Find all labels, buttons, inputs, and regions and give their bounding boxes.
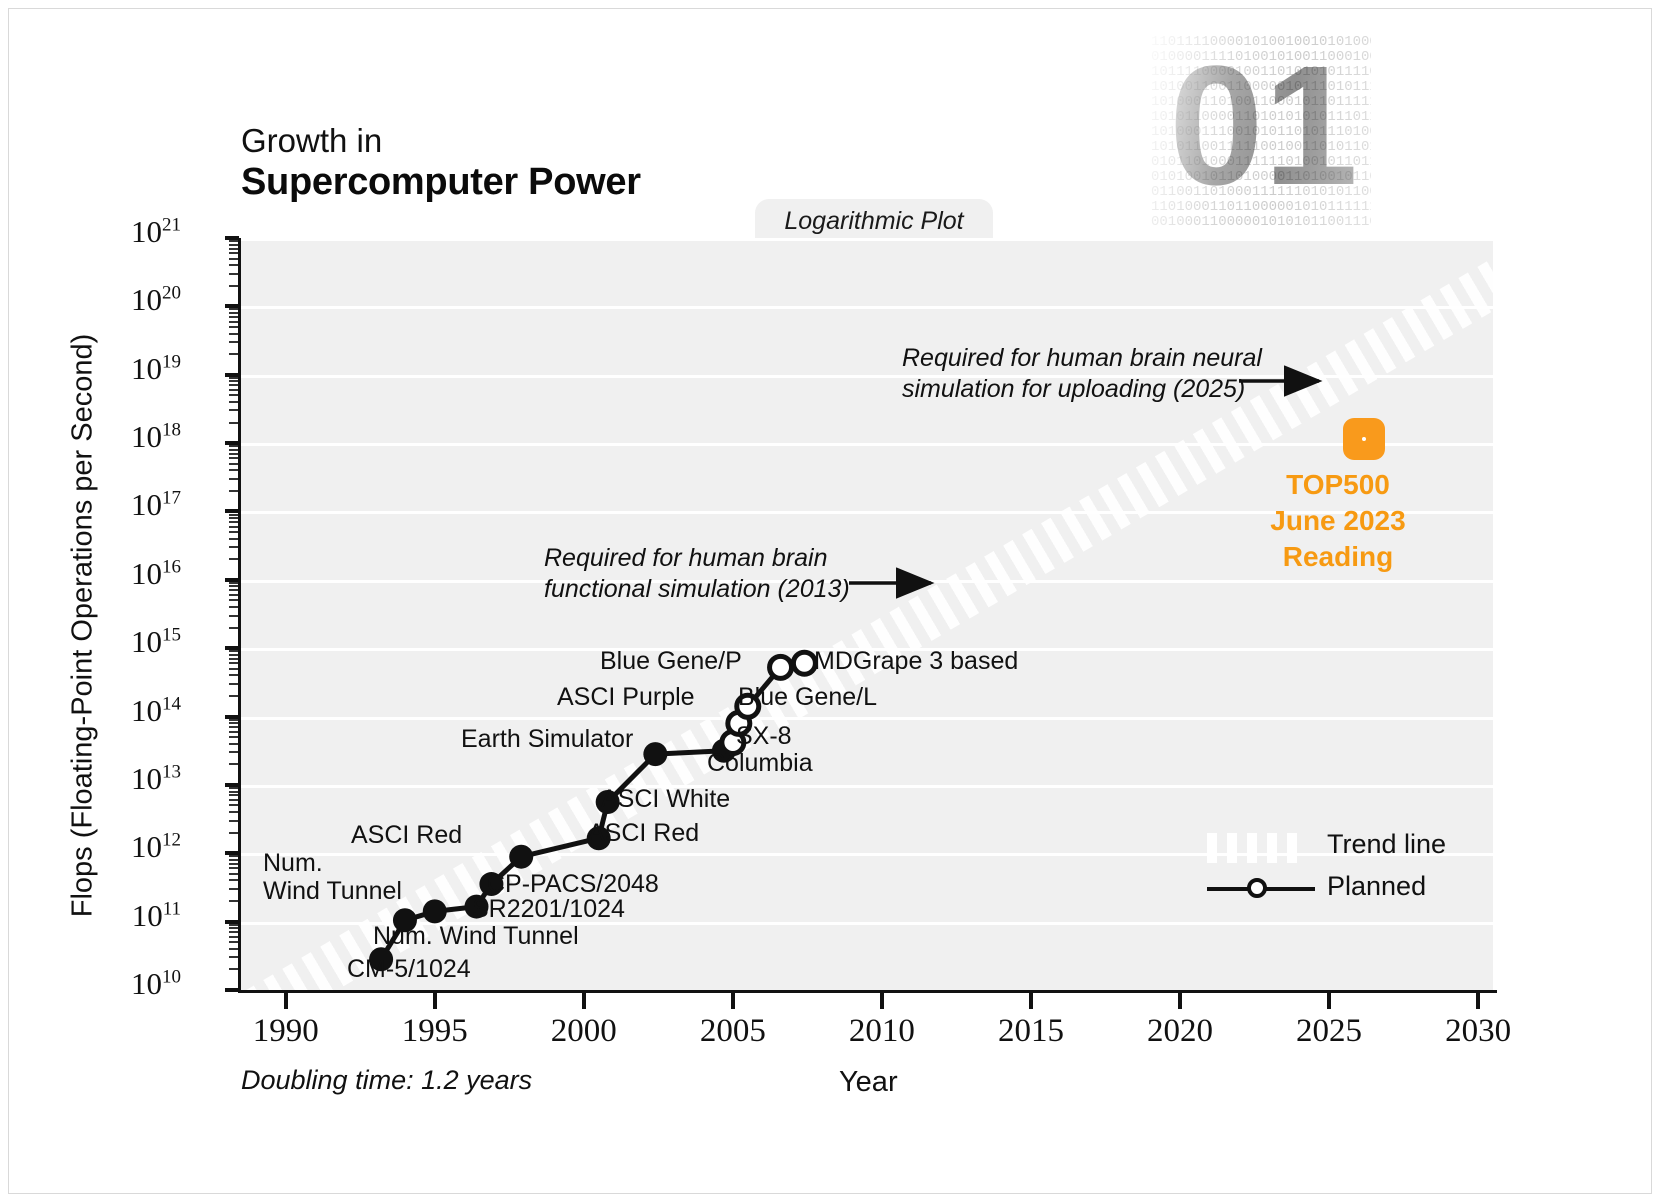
y-axis-tick-minor — [229, 312, 238, 314]
y-axis-tick-minor — [229, 927, 238, 929]
top500-line1: TOP500 — [1213, 467, 1463, 503]
data-point-planned[interactable] — [793, 652, 815, 674]
data-point-label: ASCI Red — [588, 819, 699, 848]
top500-line2: June 2023 Reading — [1213, 503, 1463, 575]
y-axis-tick-minor — [229, 606, 238, 608]
data-point-achieved[interactable] — [509, 845, 533, 869]
x-axis-tick — [880, 993, 884, 1009]
y-axis-tick-major — [225, 715, 239, 719]
y-axis-tick-minor — [229, 273, 238, 275]
data-point-label: Blue Gene/L — [738, 683, 877, 712]
annotation-brain-functional-sim: Required for human brain functional simu… — [544, 543, 850, 605]
y-axis-tick-label: 1015 — [21, 624, 181, 660]
legend-label-planned: Planned — [1327, 871, 1426, 902]
x-axis-tick-label: 2000 — [551, 1013, 617, 1050]
y-axis-tick-major — [225, 851, 239, 855]
y-axis-tick-minor — [229, 585, 238, 587]
planned-marker-icon — [1247, 878, 1267, 898]
y-axis-tick-minor — [229, 787, 238, 789]
y-axis-tick-minor — [229, 855, 238, 857]
binary-01-logo: 1101111000010100100101010000 01000011110… — [1151, 35, 1371, 225]
y-axis-tick-major — [225, 988, 239, 992]
y-axis-tick-minor — [229, 654, 238, 656]
top500-marker-dot — [1362, 437, 1366, 441]
y-axis-tick-minor — [229, 695, 238, 697]
doubling-time-note: Doubling time: 1.2 years — [241, 1065, 532, 1096]
y-axis-tick-minor — [229, 252, 238, 254]
y-axis-tick-label: 1013 — [21, 761, 181, 797]
data-point-label: ASCI White — [601, 785, 730, 814]
x-axis-tick — [1178, 993, 1182, 1009]
y-axis-tick-minor — [229, 668, 238, 670]
x-axis-tick-label: 1990 — [253, 1013, 319, 1050]
y-axis-tick-minor — [229, 936, 238, 938]
y-axis-tick-minor — [229, 658, 238, 660]
y-axis-tick-minor — [229, 422, 238, 424]
logo-glyph: 01 — [1169, 41, 1358, 211]
y-axis-tick-major — [225, 578, 239, 582]
y-axis-tick-label: 1021 — [21, 214, 181, 250]
y-axis-tick-minor — [229, 743, 238, 745]
y-axis-tick-minor — [229, 514, 238, 516]
x-axis-tick-label: 2005 — [700, 1013, 766, 1050]
y-axis-tick-minor — [229, 873, 238, 875]
y-axis-tick-minor — [229, 867, 238, 869]
y-axis-tick-minor — [229, 900, 238, 902]
data-point-label: Columbia — [707, 749, 813, 778]
y-axis-tick-minor — [229, 264, 238, 266]
data-point-label: SR2201/1024 — [472, 895, 625, 924]
x-axis-tick-label: 1995 — [402, 1013, 468, 1050]
y-axis-tick-minor — [229, 321, 238, 323]
legend-label-trend-line: Trend line — [1327, 829, 1446, 860]
y-axis-tick-minor — [229, 736, 238, 738]
x-axis-tick-label: 2030 — [1445, 1013, 1511, 1050]
y-axis-tick-minor — [229, 968, 238, 970]
y-axis-tick-label: 1011 — [21, 898, 181, 934]
y-axis-tick-minor — [229, 380, 238, 382]
y-axis-tick-minor — [229, 615, 238, 617]
y-axis-tick-major — [225, 373, 239, 377]
y-axis-tick-minor — [229, 799, 238, 801]
y-axis-tick-label: 1020 — [21, 282, 181, 318]
data-point-label: CM-5/1024 — [347, 955, 471, 984]
x-axis-tick-label: 2015 — [998, 1013, 1064, 1050]
y-axis-tick-minor — [229, 521, 238, 523]
y-axis-tick-major — [225, 509, 239, 513]
y-axis-tick-minor — [229, 478, 238, 480]
y-axis-tick-minor — [229, 517, 238, 519]
y-axis-tick-minor — [229, 409, 238, 411]
y-axis-tick-minor — [229, 589, 238, 591]
y-axis-tick-minor — [229, 449, 238, 451]
y-axis-tick-minor — [229, 956, 238, 958]
y-axis-tick-minor — [229, 316, 238, 318]
x-axis-tick — [284, 993, 288, 1009]
data-point-label: Wind Tunnel — [263, 877, 402, 906]
y-axis-tick-minor — [229, 258, 238, 260]
y-axis-tick-minor — [229, 924, 238, 926]
y-axis-tick-minor — [229, 859, 238, 861]
y-axis-tick-minor — [229, 763, 238, 765]
y-axis-tick-minor — [229, 820, 238, 822]
x-axis-tick-label: 2020 — [1147, 1013, 1213, 1050]
y-axis-tick-minor — [229, 941, 238, 943]
data-point-planned[interactable] — [770, 656, 792, 678]
y-axis-tick-label: 1012 — [21, 829, 181, 865]
data-point-achieved[interactable] — [423, 899, 447, 923]
y-axis-tick-minor — [229, 445, 238, 447]
y-axis-tick-minor — [229, 384, 238, 386]
title-prefix: Growth in — [241, 122, 382, 160]
y-axis-tick-minor — [229, 453, 238, 455]
y-axis-tick-minor — [229, 285, 238, 287]
y-axis-tick-minor — [229, 719, 238, 721]
data-series — [241, 238, 1493, 990]
y-axis-tick-major — [225, 783, 239, 787]
trend-line-swatch — [1207, 833, 1307, 863]
y-axis-tick-minor — [229, 341, 238, 343]
y-axis-tick-minor — [229, 490, 238, 492]
y-axis-tick-minor — [229, 457, 238, 459]
y-axis-tick-minor — [229, 353, 238, 355]
y-axis-tick-minor — [229, 333, 238, 335]
y-axis-tick-major — [225, 304, 239, 308]
y-axis-tick-minor — [229, 240, 238, 242]
y-axis-tick-label: 1010 — [21, 966, 181, 1002]
y-axis-tick-minor — [229, 722, 238, 724]
y-axis-tick-label: 1018 — [21, 419, 181, 455]
data-point-label: MDGrape 3 based — [814, 647, 1018, 676]
tab-logarithmic-plot[interactable]: Logarithmic Plot — [755, 199, 993, 243]
data-point-achieved[interactable] — [643, 742, 667, 766]
y-axis-tick-minor — [229, 248, 238, 250]
y-axis-tick-major — [225, 920, 239, 924]
y-axis-tick-minor — [229, 832, 238, 834]
y-axis-tick-minor — [229, 650, 238, 652]
y-axis-tick-minor — [229, 244, 238, 246]
y-axis-tick-minor — [229, 469, 238, 471]
x-axis-tick — [433, 993, 437, 1009]
chart-frame: 1101111000010100100101010000 01000011110… — [8, 8, 1652, 1194]
top500-annotation: TOP500 June 2023 Reading — [1213, 467, 1463, 575]
data-point-label: ASCI Purple — [557, 683, 695, 712]
y-axis-tick-minor — [229, 599, 238, 601]
y-axis-tick-minor — [229, 794, 238, 796]
y-axis-tick-minor — [229, 879, 238, 881]
y-axis-tick-minor — [229, 463, 238, 465]
x-axis-tick — [1327, 993, 1331, 1009]
x-axis-tick — [1476, 993, 1480, 1009]
page-title: Supercomputer Power — [241, 161, 641, 204]
y-axis-tick-minor — [229, 731, 238, 733]
data-point-label: Num. Wind Tunnel — [373, 922, 579, 951]
x-axis-tick-label: 2010 — [849, 1013, 915, 1050]
y-axis-tick-minor — [229, 726, 238, 728]
annotation-brain-neural-upload: Required for human brain neural simulati… — [902, 343, 1262, 405]
y-axis-tick-minor — [229, 683, 238, 685]
y-axis-tick-major — [225, 441, 239, 445]
y-axis-tick-minor — [229, 582, 238, 584]
y-axis-tick-minor — [229, 811, 238, 813]
y-axis-tick-major — [225, 646, 239, 650]
y-axis-tick-minor — [229, 863, 238, 865]
y-axis-tick-minor — [229, 526, 238, 528]
y-axis-tick-minor — [229, 674, 238, 676]
y-axis-tick-minor — [229, 531, 238, 533]
y-axis-tick-minor — [229, 627, 238, 629]
data-point-label: Blue Gene/P — [600, 647, 742, 676]
y-axis-tick-minor — [229, 377, 238, 379]
y-axis-title: Flops (Floating-Point Operations per Sec… — [67, 306, 100, 946]
y-axis-tick-minor — [229, 308, 238, 310]
y-axis-tick-minor — [229, 389, 238, 391]
y-axis-tick-minor — [229, 791, 238, 793]
y-axis-tick-label: 1016 — [21, 556, 181, 592]
y-axis-tick-minor — [229, 888, 238, 890]
x-axis-title: Year — [839, 1066, 898, 1099]
y-axis-tick-minor — [229, 662, 238, 664]
tab-label: Logarithmic Plot — [755, 199, 993, 243]
data-point-label: ASCI Red — [351, 821, 462, 850]
y-axis-tick-label: 1017 — [21, 487, 181, 523]
y-axis-tick-label: 1019 — [21, 351, 181, 387]
x-axis-tick — [731, 993, 735, 1009]
y-axis-tick-minor — [229, 948, 238, 950]
y-axis-tick-minor — [229, 538, 238, 540]
y-axis-tick-minor — [229, 931, 238, 933]
data-point-label: Earth Simulator — [461, 725, 633, 754]
y-axis-tick-minor — [229, 394, 238, 396]
y-axis-tick-major — [225, 236, 239, 240]
y-axis-tick-minor — [229, 594, 238, 596]
top500-marker[interactable] — [1343, 418, 1385, 460]
x-axis-tick — [582, 993, 586, 1009]
y-axis-tick-minor — [229, 401, 238, 403]
y-axis-tick-minor — [229, 326, 238, 328]
y-axis-tick-minor — [229, 751, 238, 753]
y-axis-tick-minor — [229, 804, 238, 806]
x-axis-tick — [1029, 993, 1033, 1009]
y-axis-tick-minor — [229, 558, 238, 560]
x-axis-line — [238, 990, 1497, 993]
y-axis-tick-minor — [229, 546, 238, 548]
data-point-label: SX-8 — [736, 722, 792, 751]
y-axis-tick-label: 1014 — [21, 693, 181, 729]
x-axis-tick-label: 2025 — [1296, 1013, 1362, 1050]
data-point-label: Num. — [263, 849, 323, 878]
